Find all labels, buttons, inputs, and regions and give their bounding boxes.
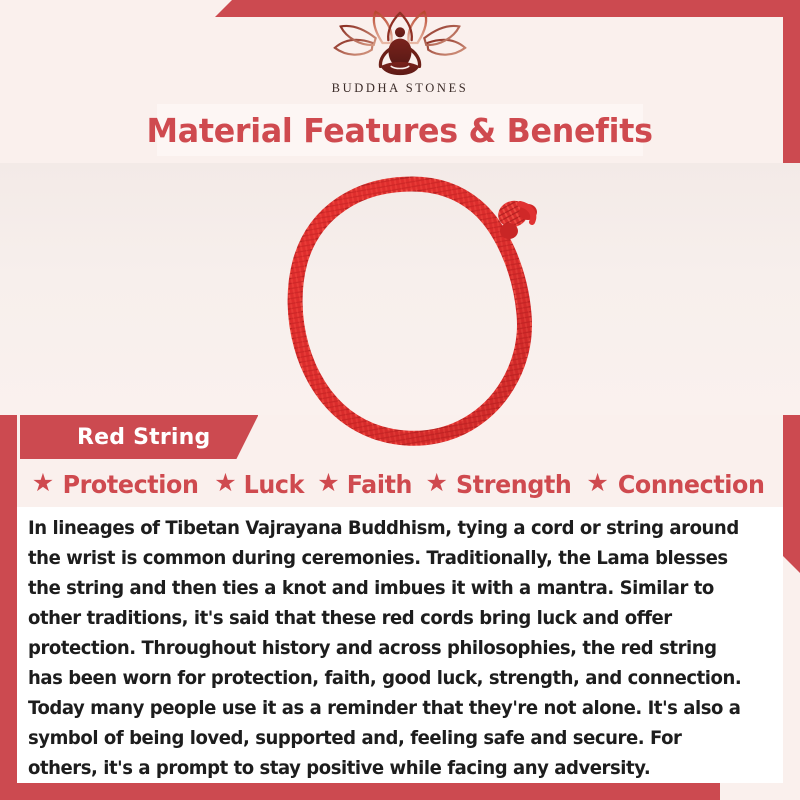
product-image-band	[0, 163, 800, 415]
star-icon: ★	[586, 471, 608, 496]
benefit-label: Strength	[456, 470, 571, 499]
benefit-item-faith: ★ Faith	[317, 470, 413, 499]
star-icon: ★	[214, 471, 236, 496]
benefit-label: Protection	[63, 470, 199, 499]
poster-root: BUDDHA STONES Material Features & Benefi…	[0, 0, 800, 800]
material-ribbon: Red String	[20, 415, 258, 459]
lotus-meditation-figure-icon	[325, 8, 475, 78]
benefit-item-luck: ★ Luck	[214, 470, 305, 499]
benefit-item-connection: ★ Connection	[586, 470, 768, 499]
decor-band-bottom	[0, 783, 720, 800]
benefit-label: Faith	[346, 470, 411, 499]
star-icon: ★	[425, 471, 447, 496]
benefit-item-protection: ★ Protection	[32, 470, 202, 499]
brand-logo: BUDDHA STONES	[0, 8, 800, 96]
brand-name: BUDDHA STONES	[332, 81, 469, 96]
star-icon: ★	[32, 471, 54, 496]
benefits-list: ★ Protection ★ Luck ★ Faith ★ Strength ★…	[0, 461, 800, 507]
material-name: Red String	[77, 425, 210, 450]
description-panel: In lineages of Tibetan Vajrayana Buddhis…	[17, 507, 783, 783]
page-title-plaque: Material Features & Benefits	[157, 104, 643, 156]
description-text: In lineages of Tibetan Vajrayana Buddhis…	[28, 514, 746, 784]
benefit-item-strength: ★ Strength	[425, 470, 574, 499]
benefit-label: Luck	[243, 470, 303, 499]
red-string-bracelet-image	[262, 168, 562, 458]
star-icon: ★	[317, 471, 339, 496]
page-title: Material Features & Benefits	[147, 111, 653, 150]
benefit-label: Connection	[618, 470, 765, 499]
